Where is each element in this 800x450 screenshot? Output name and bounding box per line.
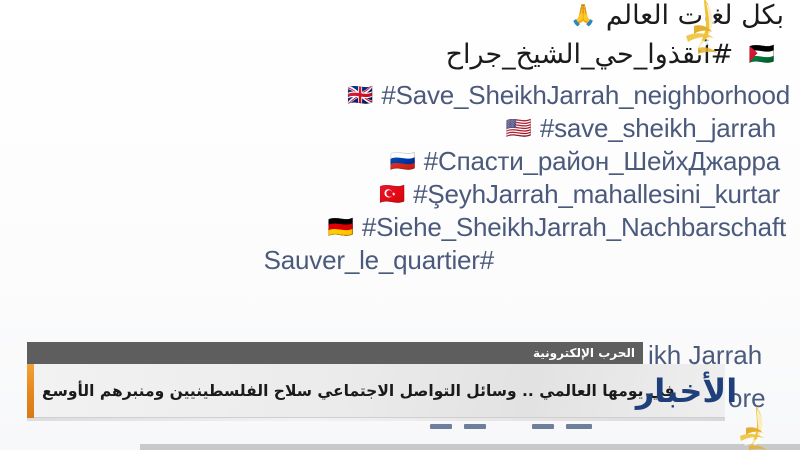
post-line-text: #save_sheikh_jarrah	[540, 113, 776, 143]
progress-dashes	[430, 424, 680, 429]
dash-mark	[566, 424, 592, 429]
post-line-turkish: 🇹🇷 #ŞeyhJarrah_mahallesini_kurtar	[0, 181, 794, 207]
flag-turkey-icon: 🇹🇷	[379, 182, 405, 206]
post-line-english: 🇬🇧 #Save_SheikhJarrah_neighborhood	[0, 82, 794, 108]
dash-mark	[464, 424, 486, 429]
topic-bar-label: الحرب الإلكترونية	[533, 346, 635, 360]
dash-mark	[430, 424, 452, 429]
post-line-text: #أنقذوا_حي_الشيخ_جراح	[446, 39, 734, 70]
post-line-text: #Siehe_SheikhJarrah_Nachbarschaft	[362, 212, 786, 242]
post-line-text: بكل لغات العالم	[606, 0, 784, 31]
post-line-german: 🇩🇪 #Siehe_SheikhJarrah_Nachbarschaft	[0, 214, 794, 240]
post-line-text: #Save_SheikhJarrah_neighborhood	[381, 80, 790, 110]
flag-palestine-icon: 🇵🇸	[749, 42, 775, 66]
post-line-text: #Sauver_le_quartier	[264, 245, 494, 275]
headline-container: في يومها العالمي .. وسائل التواصل الاجتم…	[42, 364, 642, 418]
flag-russia-icon: 🇷🇺	[390, 149, 416, 173]
post-line-arabic-intro: بكل لغات العالم 🙏	[0, 2, 794, 29]
headline-text: في يومها العالمي .. وسائل التواصل الاجتم…	[42, 382, 675, 400]
accent-bar	[27, 364, 34, 418]
dash-mark	[532, 424, 554, 429]
post-line-french: #Sauver_le_quartier	[0, 247, 794, 273]
post-line-russian: 🇷🇺 #Спасти_район_ШейхДжарра	[0, 148, 794, 174]
brand-label: الأخبار	[636, 375, 737, 407]
bottom-strip	[140, 444, 800, 450]
flag-usa-icon: 🇺🇸	[506, 116, 532, 140]
topic-bar: الحرب الإلكترونية	[27, 342, 643, 364]
panel-baseline	[27, 418, 725, 421]
post-line-arabic-hashtag: 🇵🇸 #أنقذوا_حي_الشيخ_جراح	[0, 41, 794, 68]
brand-container: الأخبار	[648, 364, 725, 418]
video-frame: ikh Jarrah ore بكل لغات العالم 🙏 🇵🇸 #أنق…	[0, 0, 800, 450]
post-line-text: #Спасти_район_ШейхДжарра	[424, 146, 780, 176]
flag-uk-icon: 🇬🇧	[347, 83, 373, 107]
folded-hands-icon: 🙏	[570, 3, 596, 27]
post-line-american: 🇺🇸 #save_sheikh_jarrah	[0, 115, 794, 141]
flag-germany-icon: 🇩🇪	[328, 215, 354, 239]
post-line-text: #ŞeyhJarrah_mahallesini_kurtar	[413, 179, 780, 209]
hashtag-list: بكل لغات العالم 🙏 🇵🇸 #أنقذوا_حي_الشيخ_جر…	[0, 0, 794, 280]
